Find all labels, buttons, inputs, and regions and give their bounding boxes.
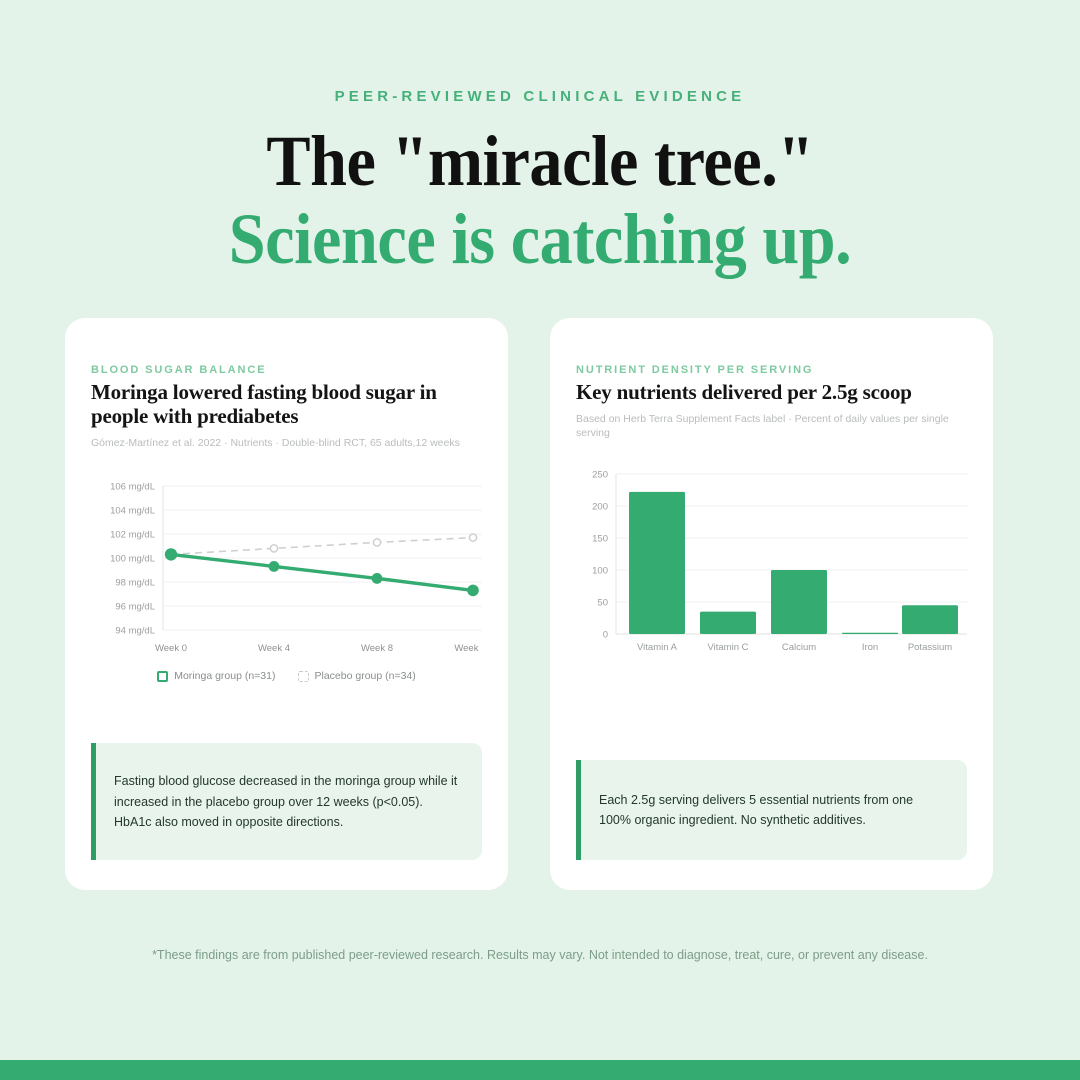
eyebrow-label: PEER-REVIEWED CLINICAL EVIDENCE — [0, 88, 1080, 105]
card-row: BLOOD SUGAR BALANCE Moringa lowered fast… — [65, 318, 992, 890]
card-blood-sugar: BLOOD SUGAR BALANCE Moringa lowered fast… — [65, 318, 508, 890]
x-tick-label: Vitamin A — [637, 642, 678, 653]
headline-line-2: Science is catching up. — [43, 201, 1037, 279]
legend-swatch-dashed-icon — [298, 671, 309, 682]
legend-label: Placebo group (n=34) — [315, 670, 416, 682]
line-chart-svg: 106 mg/dL 104 mg/dL 102 mg/dL 100 mg/dL … — [91, 472, 482, 664]
bar-chart-svg: 250 200 150 100 50 0 Vitamin — [576, 462, 967, 654]
moringa-line — [171, 554, 473, 590]
moringa-point — [372, 573, 383, 584]
x-tick-label: Calcium — [782, 642, 816, 653]
card-eyebrow-nutrient-density: NUTRIENT DENSITY PER SERVING — [576, 364, 967, 376]
headline-line-1: The "miracle tree." — [43, 123, 1037, 201]
legend-item-moringa: Moringa group (n=31) — [157, 670, 275, 682]
header: PEER-REVIEWED CLINICAL EVIDENCE The "mir… — [0, 0, 1080, 279]
x-tick-label: Potassium — [908, 642, 952, 653]
bar-chart: 250 200 150 100 50 0 Vitamin — [576, 462, 967, 682]
y-tick-label: 98 mg/dL — [115, 578, 155, 589]
y-tick-label: 94 mg/dL — [115, 626, 155, 637]
bar-chart-bars — [629, 492, 958, 634]
placebo-line — [171, 538, 473, 555]
callout-text: Each 2.5g serving delivers 5 essential n… — [599, 790, 943, 831]
card-source-nutrient-density: Based on Herb Terra Supplement Facts lab… — [576, 412, 967, 440]
card-title-nutrient-density: Key nutrients delivered per 2.5g scoop — [576, 381, 967, 405]
y-axis-tick-labels: 106 mg/dL 104 mg/dL 102 mg/dL 100 mg/dL … — [110, 482, 155, 637]
x-tick-label: Iron — [862, 642, 878, 653]
bar-iron — [842, 633, 898, 634]
legend-item-placebo: Placebo group (n=34) — [298, 670, 416, 682]
callout-text: Fasting blood glucose decreased in the m… — [114, 771, 458, 832]
x-axis-tick-labels: Week 0 Week 4 Week 8 Week 12 — [155, 643, 482, 654]
moringa-point — [467, 585, 479, 597]
placebo-point — [469, 534, 476, 541]
x-tick-label: Week 8 — [361, 643, 393, 654]
moringa-point — [165, 548, 177, 560]
placebo-markers — [167, 534, 476, 558]
x-tick-label: Week 4 — [258, 643, 290, 654]
card-nutrient-density: NUTRIENT DENSITY PER SERVING Key nutrien… — [550, 318, 993, 890]
y-tick-label: 250 — [592, 470, 608, 481]
page-title: The "miracle tree." Science is catching … — [43, 123, 1037, 279]
bar-calcium — [771, 570, 827, 634]
y-tick-label: 150 — [592, 534, 608, 545]
y-tick-label: 50 — [597, 598, 608, 609]
y-tick-label: 104 mg/dL — [110, 506, 155, 517]
footer-disclaimer: *These findings are from published peer-… — [0, 948, 1080, 962]
placebo-point — [373, 539, 380, 546]
line-chart: 106 mg/dL 104 mg/dL 102 mg/dL 100 mg/dL … — [91, 472, 482, 692]
legend-swatch-icon — [157, 671, 168, 682]
x-tick-label: Vitamin C — [707, 642, 748, 653]
card-title-blood-sugar: Moringa lowered fasting blood sugar in p… — [91, 381, 482, 429]
callout-nutrient-density: Each 2.5g serving delivers 5 essential n… — [576, 760, 967, 860]
y-axis-tick-labels: 250 200 150 100 50 0 — [592, 470, 608, 641]
y-tick-label: 102 mg/dL — [110, 530, 155, 541]
callout-blood-sugar: Fasting blood glucose decreased in the m… — [91, 743, 482, 860]
y-tick-label: 100 — [592, 566, 608, 577]
bar-vitamin-a — [629, 492, 685, 634]
y-tick-label: 0 — [603, 630, 608, 641]
y-tick-label: 96 mg/dL — [115, 602, 155, 613]
bar-potassium — [902, 605, 958, 634]
placebo-point — [270, 545, 277, 552]
card-eyebrow-blood-sugar: BLOOD SUGAR BALANCE — [91, 364, 482, 376]
x-axis-tick-labels: Vitamin A Vitamin C Calcium Iron Potassi… — [637, 642, 952, 653]
y-tick-label: 106 mg/dL — [110, 482, 155, 493]
bar-vitamin-c — [700, 612, 756, 634]
y-tick-label: 100 mg/dL — [110, 554, 155, 565]
bottom-accent-bar — [0, 1060, 1080, 1080]
card-source-blood-sugar: Gómez-Martínez et al. 2022 · Nutrients ·… — [91, 436, 482, 450]
line-chart-legend: Moringa group (n=31) Placebo group (n=34… — [91, 670, 482, 682]
moringa-point — [269, 561, 280, 572]
x-tick-label: Week 12 — [454, 643, 482, 654]
y-tick-label: 200 — [592, 502, 608, 513]
x-tick-label: Week 0 — [155, 643, 187, 654]
legend-label: Moringa group (n=31) — [174, 670, 275, 682]
